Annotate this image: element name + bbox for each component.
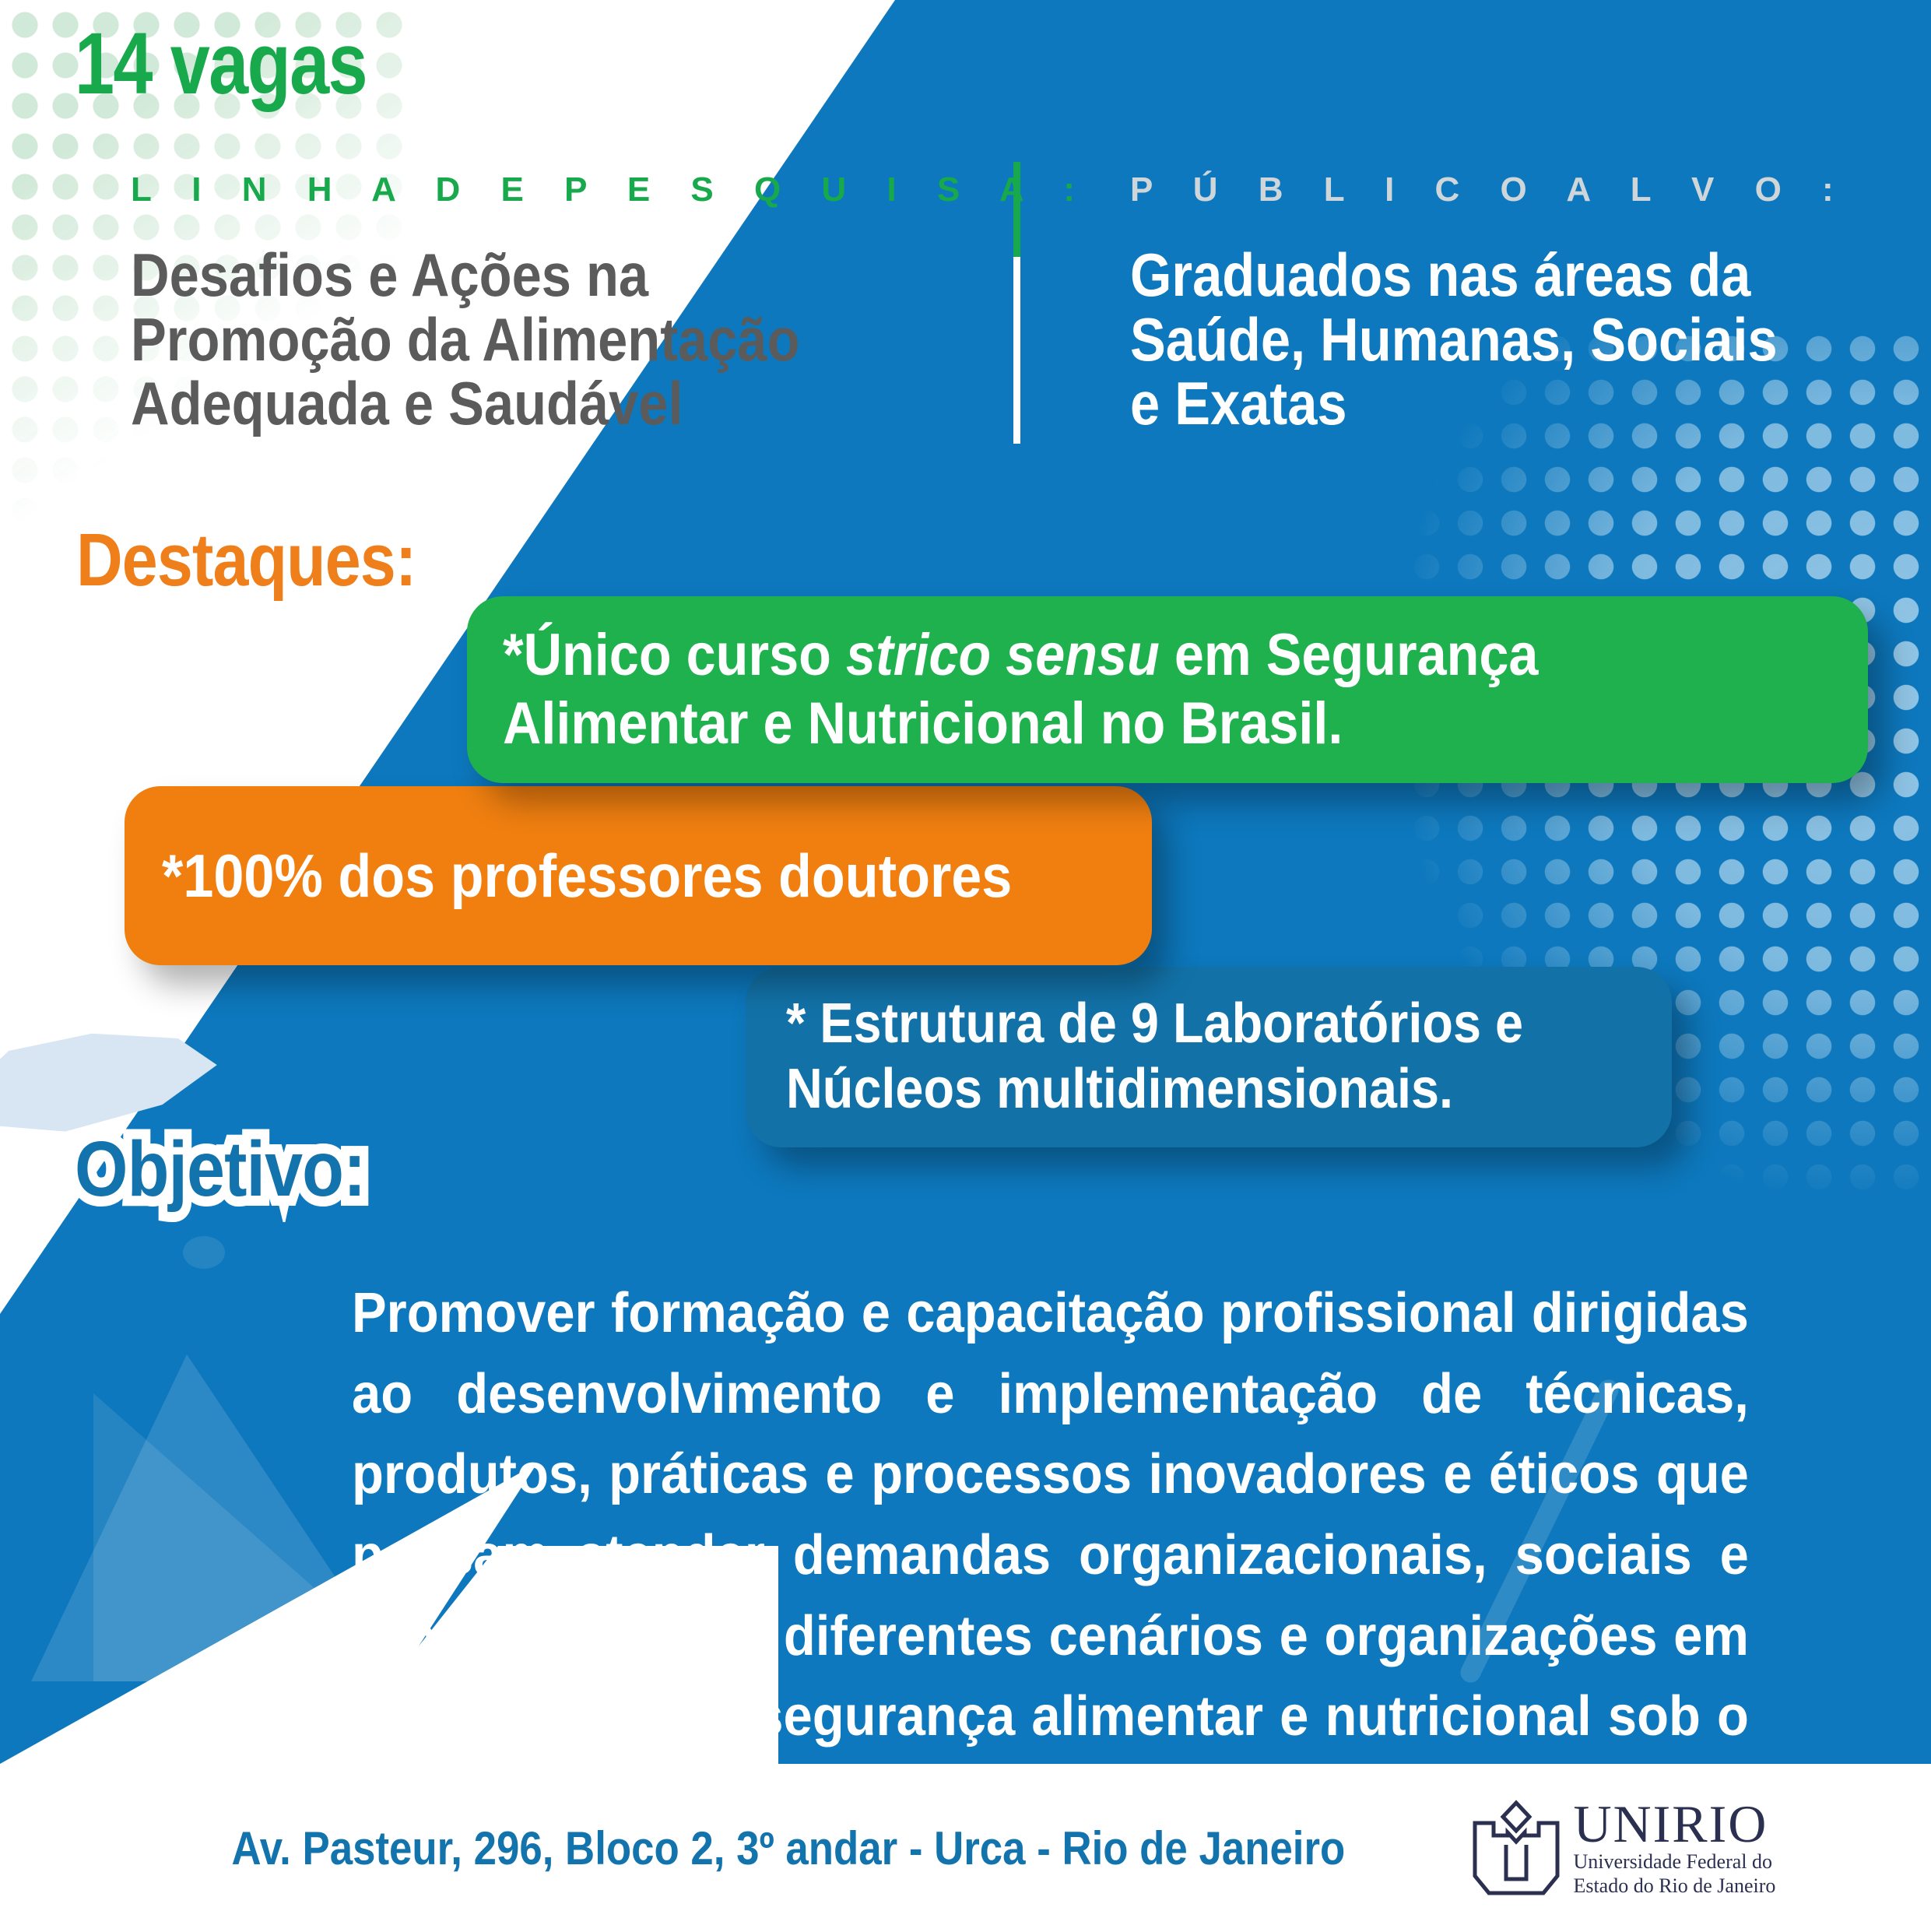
unirio-logo-name: UNIRIO: [1573, 1797, 1775, 1850]
target-audience-title: Graduados nas áreas da Saúde, Humanas, S…: [1130, 243, 1815, 436]
research-line-title: Desafios e Ações na Promoção da Alimenta…: [131, 243, 884, 436]
unirio-logo-subtitle-2: Estado do Rio de Janeiro: [1573, 1874, 1775, 1899]
vacancies-headline: 14 vagas: [75, 20, 367, 107]
header-divider-white: [1013, 257, 1020, 444]
highlight-text-before: *Único curso: [503, 622, 846, 688]
poster-canvas: 14 vagas L I N H A D E P E S Q U I S A :…: [0, 0, 1931, 1932]
target-audience-label: P Ú B L I C O A L V O :: [1130, 173, 1849, 207]
highlight-badge-unique-course: *Único curso strico sensu em Segurança A…: [467, 596, 1868, 783]
unirio-crest-icon: [1470, 1798, 1562, 1898]
highlight-text-italic: strico sensu: [846, 622, 1160, 688]
highlight-badge-labs-structure: * Estrutura de 9 Laboratórios e Núcleos …: [746, 967, 1672, 1147]
objective-body-text: Promover formação e capacitação profissi…: [352, 1273, 1749, 1839]
highlight-badge-labs-structure-text: * Estrutura de 9 Laboratórios e Núcleos …: [786, 992, 1547, 1122]
footer-bar: Av. Pasteur, 296, Bloco 2, 3º andar - Ur…: [0, 1764, 1931, 1932]
header-divider-green: [1013, 162, 1020, 257]
unirio-logo: UNIRIO Universidade Federal do Estado do…: [1470, 1797, 1775, 1898]
unirio-logo-subtitle-1: Universidade Federal do: [1573, 1850, 1775, 1874]
decorative-circle-small: [183, 1236, 225, 1269]
objective-heading: Objetivo:: [75, 1130, 365, 1208]
research-line-label: L I N H A D E P E S Q U I S A :: [131, 173, 1090, 207]
highlight-badge-doctor-professors: *100% dos professores doutores: [125, 786, 1152, 965]
highlights-heading: Destaques:: [76, 523, 416, 598]
unirio-logo-text: UNIRIO Universidade Federal do Estado do…: [1573, 1797, 1775, 1898]
highlight-badge-unique-course-text: *Único curso strico sensu em Segurança A…: [503, 621, 1699, 758]
highlight-badge-doctor-professors-text: *100% dos professores doutores: [162, 841, 1020, 911]
address-text: Av. Pasteur, 296, Bloco 2, 3º andar - Ur…: [231, 1821, 1345, 1875]
